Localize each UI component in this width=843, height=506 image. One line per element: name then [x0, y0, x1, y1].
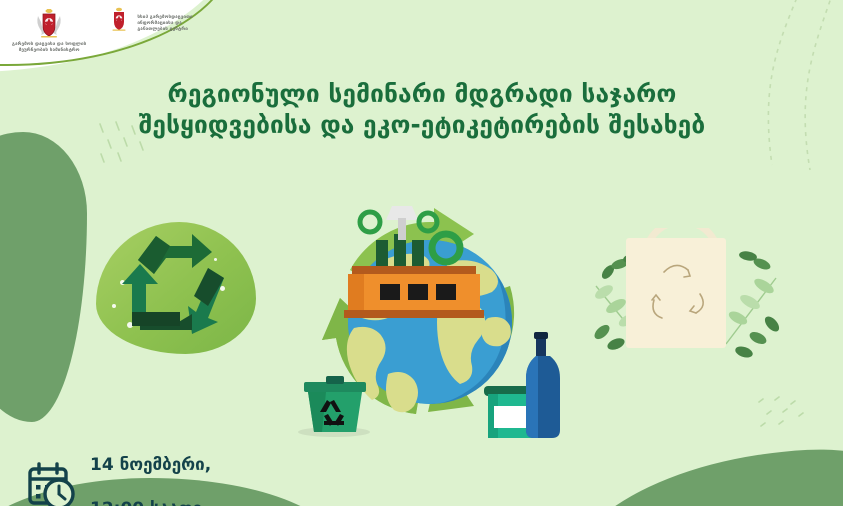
decorative-blob-left — [0, 132, 87, 422]
recycling-symbol-emblem — [96, 222, 256, 354]
eiec-logo: სსიპ გარემოსდაცვითი ინფორმაციისა და განა… — [108, 6, 192, 34]
calendar-clock-icon — [26, 461, 78, 506]
logo-bar: გარემოს დაცვისა და სოფლის მეურნეობის სამ… — [12, 6, 193, 54]
ministry-logo: გარემოს დაცვისა და სოფლის მეურნეობის სამ… — [12, 6, 86, 54]
page-title: რეგიონული სემინარი მდგრადი საჯარო შესყიდ… — [60, 78, 784, 140]
georgia-coat-of-arms-icon — [34, 6, 64, 39]
dash-accent-bottom-right — [755, 396, 815, 436]
central-illustration — [288, 178, 572, 462]
tote-bag-scene — [586, 228, 786, 400]
ministry-logo-caption: გარემოს დაცვისა და სოფლის მეურნეობის სამ… — [12, 42, 86, 54]
event-datetime: 14 ნოემბერი, 12:00 საათი — [26, 432, 211, 506]
event-time-line: 12:00 საათი — [90, 498, 211, 506]
page-title-line1: რეგიონული სემინარი მდგრადი საჯარო — [60, 78, 784, 109]
page-title-line2: შესყიდვებისა და ეკო-ეტიკეტირების შესახებ — [60, 109, 784, 140]
eiec-caption-line3: განათლების ცენტრი — [137, 27, 192, 33]
leaf-branch-icon — [726, 250, 782, 360]
ministry-caption-line2: მეურნეობის სამინისტრო — [12, 48, 86, 54]
poster-canvas: გარემოს დაცვისა და სოფლის მეურნეობის სამ… — [0, 0, 843, 506]
georgia-coat-of-arms-icon — [108, 6, 130, 32]
recycling-symbol-icon — [96, 222, 256, 354]
decorative-blob-bottom-right — [556, 441, 843, 506]
eiec-logo-caption: სსიპ გარემოსდაცვითი ინფორმაციისა და განა… — [137, 15, 192, 34]
tote-bag-icon — [626, 228, 726, 348]
event-date-line: 14 ნოემბერი, — [90, 454, 211, 476]
glass-bottle-icon — [526, 332, 560, 438]
recycling-bin-icon — [298, 376, 370, 437]
event-datetime-text: 14 ნოემბერი, 12:00 საათი — [90, 432, 211, 506]
